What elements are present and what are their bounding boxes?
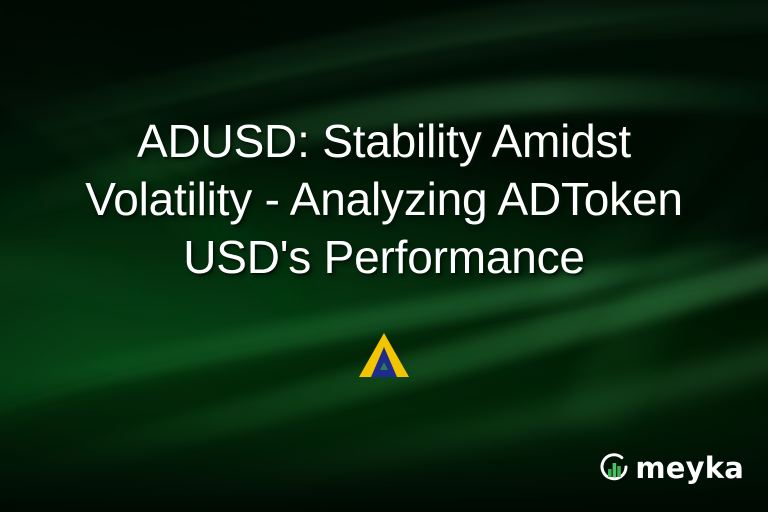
- title-line-2: Volatility - Analyzing ADToken: [0, 170, 768, 228]
- title-line-3: USD's Performance: [0, 228, 768, 286]
- logo-bar-2: [613, 463, 617, 477]
- meyka-brand-lockup: meyka: [596, 450, 744, 486]
- adtoken-triangle-logo: [356, 330, 412, 380]
- logo-bar-3: [618, 466, 622, 477]
- page-title: ADUSD: Stability Amidst Volatility - Ana…: [0, 112, 768, 286]
- title-line-1: ADUSD: Stability Amidst: [0, 112, 768, 170]
- logo-bar-1: [608, 469, 612, 477]
- meyka-brand-name: meyka: [635, 454, 744, 483]
- meyka-circle-barchart-logo: [596, 450, 632, 486]
- banner-canvas: ADUSD: Stability Amidst Volatility - Ana…: [0, 0, 768, 512]
